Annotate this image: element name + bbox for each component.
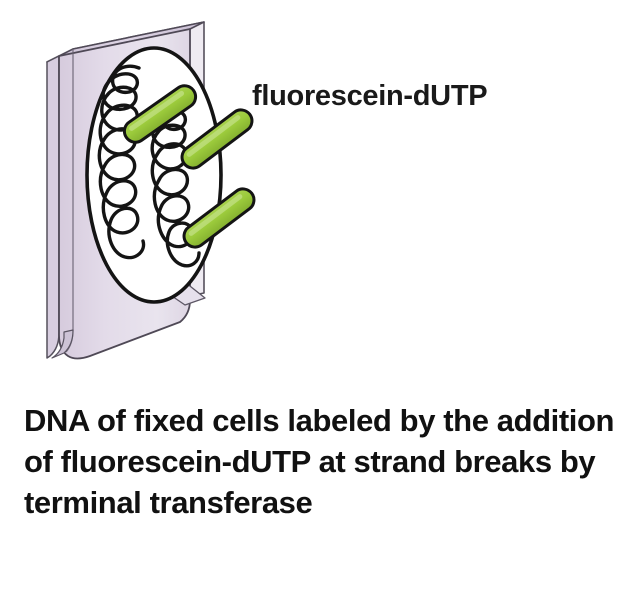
slide-left-edge <box>47 56 59 358</box>
illustration-panel <box>0 0 640 400</box>
fluorescein-dutp-label: fluorescein-dUTP <box>252 80 487 113</box>
figure-caption: DNA of fixed cells labeled by the additi… <box>24 400 624 523</box>
figure-page: fluorescein-dUTP DNA of fixed cells labe… <box>0 0 640 589</box>
